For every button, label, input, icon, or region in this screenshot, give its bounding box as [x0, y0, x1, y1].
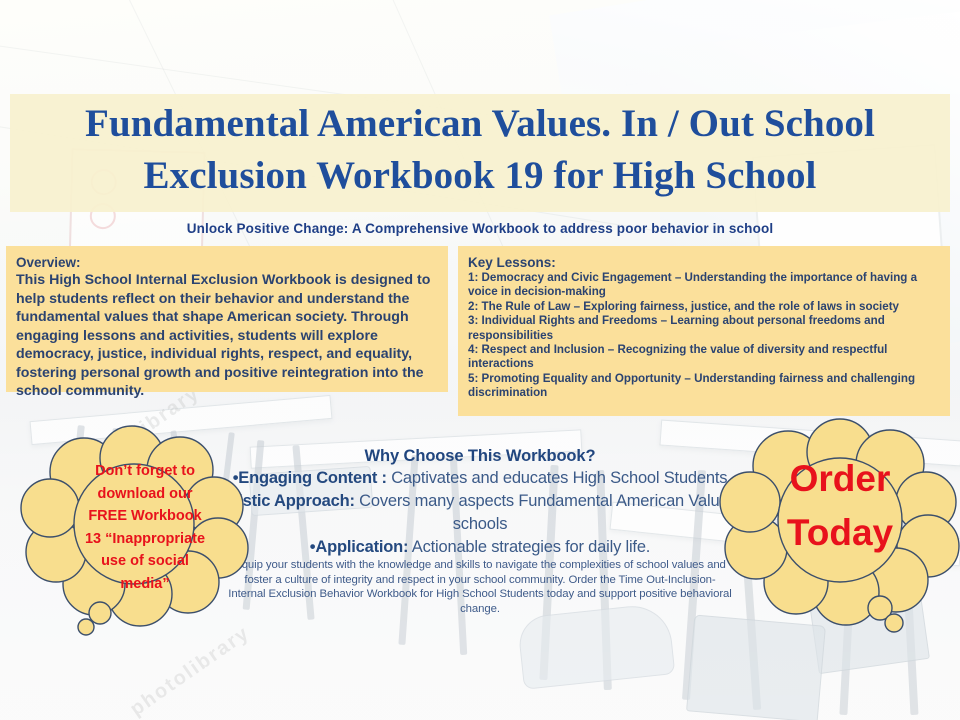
cloud-left-line-6: media” [56, 573, 234, 596]
closing-paragraph: Equip your students with the knowledge a… [228, 558, 732, 616]
why-choose-heading: Why Choose This Workbook? [180, 446, 780, 467]
cloud-left-line-2: download our [56, 483, 234, 506]
poster-slide: photolibrary photolibrary photolibrary F… [0, 0, 960, 720]
cloud-left-text: Don’t forget to download our FREE Workbo… [56, 460, 234, 595]
overview-box: Overview: This High School Internal Excl… [6, 246, 448, 392]
cloud-left-line-3: FREE Workbook [56, 505, 234, 528]
key-lessons-heading: Key Lessons: [468, 254, 940, 271]
why-choose-block: Why Choose This Workbook? •Engaging Cont… [180, 446, 780, 559]
bullet-text: Covers many aspects Fundamental American… [355, 492, 754, 533]
bullet-text: Captivates and educates High School Stud… [387, 469, 727, 487]
bullet-label: •Engaging Content : [233, 469, 387, 487]
cloud-left-line-5: use of social [56, 550, 234, 573]
cloud-right-text: Order Today [744, 452, 936, 560]
cloud-right-line-1: Order [744, 452, 936, 506]
subtitle: Unlock Positive Change: A Comprehensive … [120, 221, 840, 236]
cloud-right-line-2: Today [744, 506, 936, 560]
why-choose-bullet: •Holistic Approach: Covers many aspects … [180, 490, 780, 536]
key-lesson-item: 1: Democracy and Civic Engagement – Unde… [468, 271, 940, 300]
cloud-callout-order-today[interactable]: Order Today [722, 420, 958, 632]
cloud-left-line-1: Don’t forget to [56, 460, 234, 483]
cloud-left-line-4: 13 “Inappropriate [56, 528, 234, 551]
key-lesson-item: 5: Promoting Equality and Opportunity – … [468, 372, 940, 401]
cloud-callout-free-workbook[interactable]: Don’t forget to download our FREE Workbo… [22, 424, 248, 634]
key-lessons-box: Key Lessons: 1: Democracy and Civic Enga… [458, 246, 950, 416]
page-title: Fundamental American Values. In / Out Sc… [10, 98, 950, 202]
key-lesson-item: 3: Individual Rights and Freedoms – Lear… [468, 314, 940, 343]
bullet-label: •Application: [310, 538, 409, 556]
why-choose-bullet: •Engaging Content : Captivates and educa… [180, 467, 780, 490]
bullet-text: Actionable strategies for daily life. [408, 538, 650, 556]
overview-heading: Overview: [16, 254, 438, 271]
why-choose-bullet: •Application: Actionable strategies for … [180, 536, 780, 559]
key-lesson-item: 2: The Rule of Law – Exploring fairness,… [468, 300, 940, 314]
key-lesson-item: 4: Respect and Inclusion – Recognizing t… [468, 343, 940, 372]
overview-body: This High School Internal Exclusion Work… [16, 271, 438, 401]
